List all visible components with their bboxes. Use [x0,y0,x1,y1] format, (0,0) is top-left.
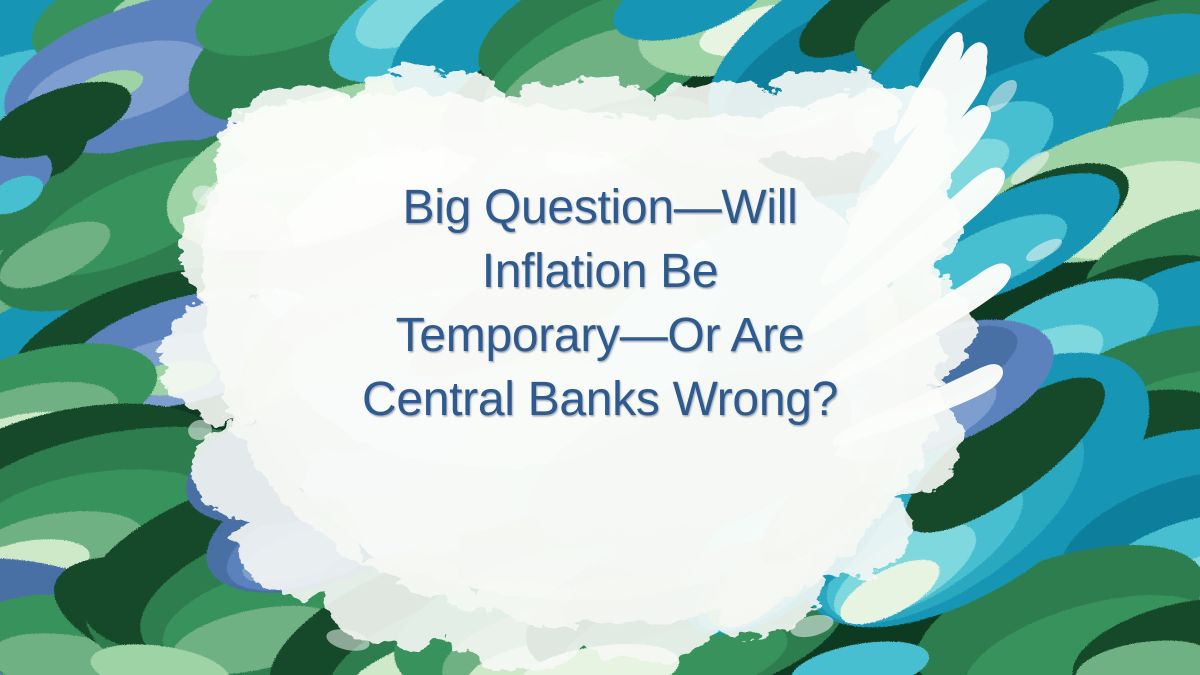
title-slide: Big Question—Will Inflation Be Temporary… [0,0,1200,675]
white-brush-stroke-overlay [0,0,1200,675]
